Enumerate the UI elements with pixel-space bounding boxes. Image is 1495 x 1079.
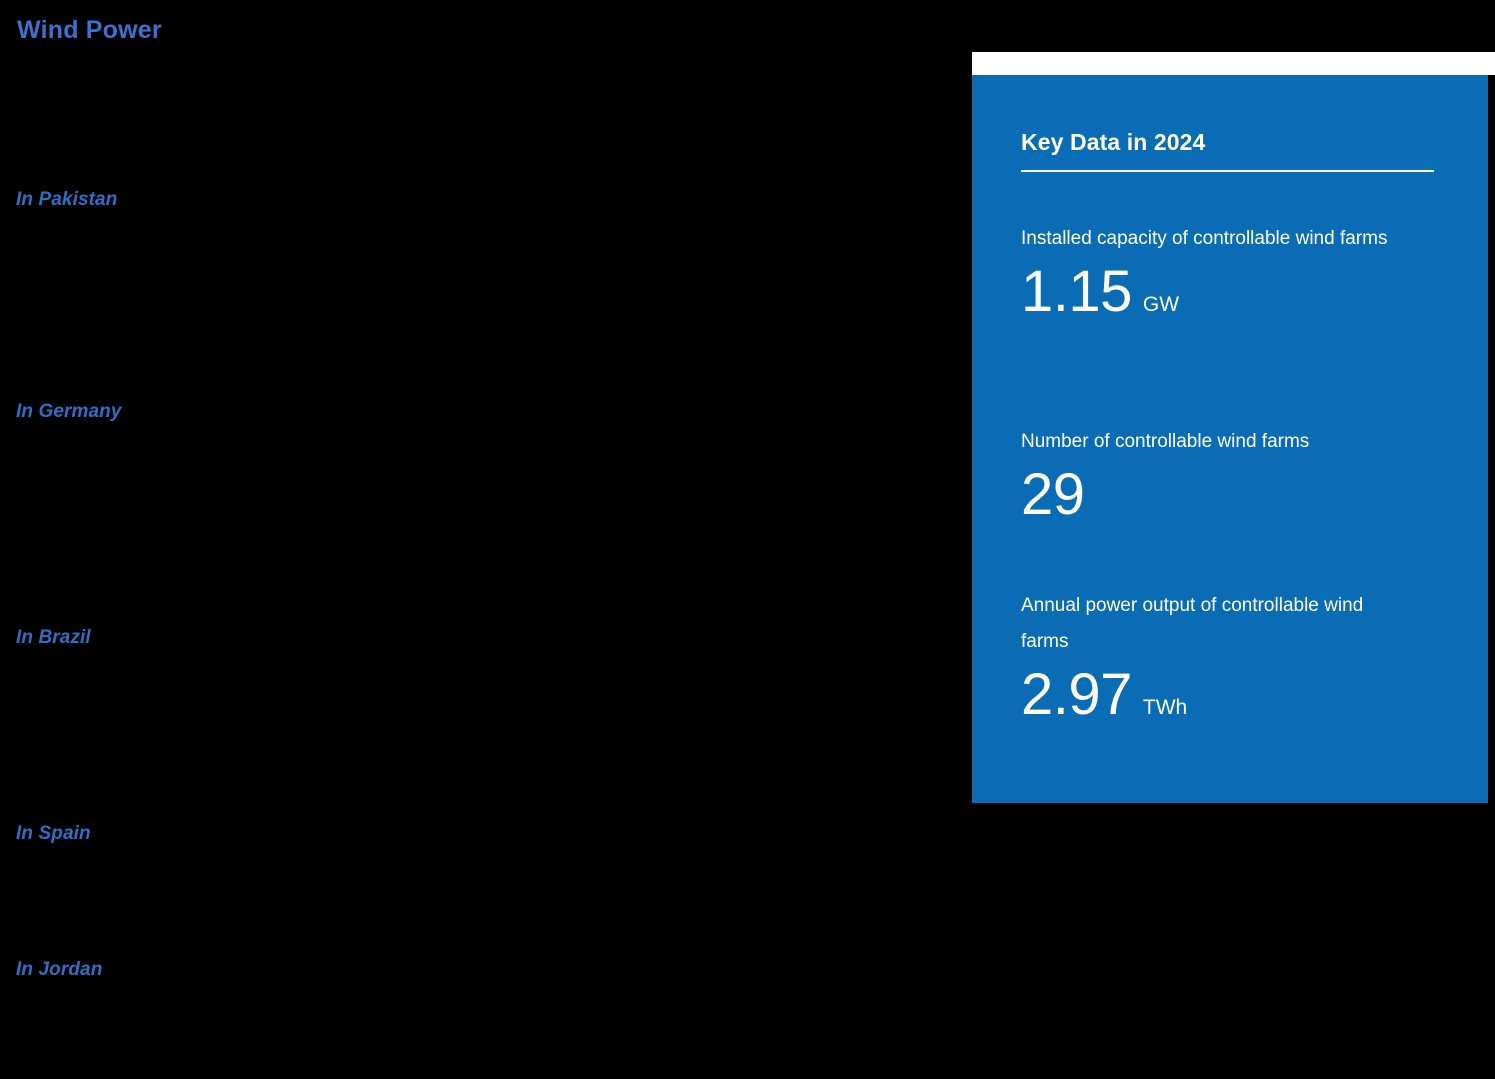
metric-number-of-wind-farms: Number of controllable wind farms 29 <box>1021 424 1441 526</box>
section-label-spain: In Spain <box>16 822 91 846</box>
metric-value: 29 <box>1021 464 1085 526</box>
heading-divider <box>1021 170 1434 172</box>
page-title: Wind Power <box>17 14 162 46</box>
metric-label: Number of controllable wind farms <box>1021 424 1401 460</box>
metric-value-row: 1.15 GW <box>1021 261 1441 323</box>
metric-value-row: 29 <box>1021 464 1441 526</box>
section-label-jordan: In Jordan <box>16 958 102 982</box>
metric-installed-capacity: Installed capacity of controllable wind … <box>1021 221 1441 323</box>
section-label-germany: In Germany <box>16 400 122 424</box>
card-body: Key Data in 2024 Installed capacity of c… <box>972 75 1488 803</box>
metric-value: 1.15 <box>1021 261 1132 323</box>
metric-label: Annual power output of controllable wind… <box>1021 588 1401 660</box>
key-data-heading: Key Data in 2024 <box>1021 129 1205 156</box>
metric-unit: TWh <box>1143 696 1187 720</box>
metric-unit: GW <box>1143 293 1179 317</box>
metric-annual-power-output: Annual power output of controllable wind… <box>1021 588 1441 726</box>
metric-value-row: 2.97 TWh <box>1021 664 1441 726</box>
key-data-card: Key Data in 2024 Installed capacity of c… <box>972 52 1495 803</box>
section-label-pakistan: In Pakistan <box>16 188 117 212</box>
section-label-brazil: In Brazil <box>16 626 91 650</box>
metric-label: Installed capacity of controllable wind … <box>1021 221 1401 257</box>
metric-value: 2.97 <box>1021 664 1132 726</box>
card-top-strip <box>972 52 1495 75</box>
